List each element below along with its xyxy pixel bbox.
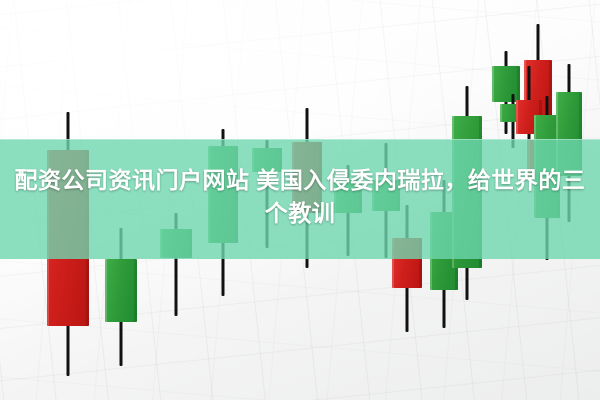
candlestick-body-up (105, 259, 137, 322)
candlestick-banner-image: 配资公司资讯门户网站 美国入侵委内瑞拉，给世界的三个教训 (0, 0, 600, 400)
headline-text: 配资公司资讯门户网站 美国入侵委内瑞拉，给世界的三个教训 (0, 164, 600, 230)
band-top-edge (0, 139, 600, 140)
